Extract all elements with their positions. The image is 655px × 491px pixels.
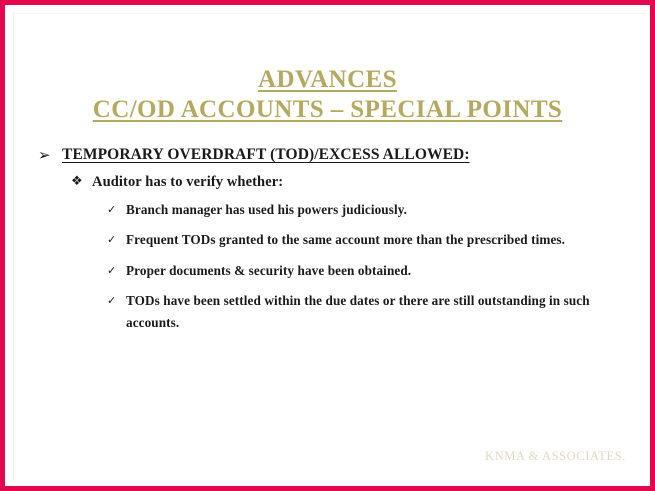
title-line-1: ADVANCES [5, 65, 650, 95]
list-item: ✓ Frequent TODs granted to the same acco… [5, 229, 650, 250]
list-item-label: Proper documents & security have been ob… [126, 260, 411, 281]
slide-footer: KNMA & ASSOCIATES. [485, 449, 626, 464]
title-line-2-text: CC/OD ACCOUNTS – SPECIAL POINTS [93, 96, 562, 123]
check-bullet-icon: ✓ [107, 229, 126, 250]
list-item-label: TODs have been settled within the due da… [126, 290, 605, 333]
check-bullet-icon: ✓ [107, 199, 126, 220]
presentation-slide: ADVANCES CC/OD ACCOUNTS – SPECIAL POINTS… [0, 0, 655, 491]
bullet-level2-label: Auditor has to verify whether: [92, 171, 283, 193]
diamond-bullet-icon: ❖ [71, 171, 92, 193]
bullet-level1-label: TEMPORARY OVERDRAFT (TOD)/EXCESS ALLOWED… [62, 144, 470, 166]
bullet-level1: ➢ TEMPORARY OVERDRAFT (TOD)/EXCESS ALLOW… [5, 144, 650, 166]
slide-title: ADVANCES CC/OD ACCOUNTS – SPECIAL POINTS [5, 65, 650, 124]
list-item: ✓ TODs have been settled within the due … [5, 290, 650, 333]
title-line-1-text: ADVANCES [258, 66, 397, 93]
list-item: ✓ Proper documents & security have been … [5, 260, 650, 281]
list-item: ✓ Branch manager has used his powers jud… [5, 199, 650, 220]
arrow-bullet-icon: ➢ [38, 144, 62, 166]
bullet-level2: ❖ Auditor has to verify whether: [5, 171, 650, 193]
check-bullet-icon: ✓ [107, 260, 126, 281]
slide-body: ➢ TEMPORARY OVERDRAFT (TOD)/EXCESS ALLOW… [5, 144, 650, 342]
title-line-2: CC/OD ACCOUNTS – SPECIAL POINTS [5, 95, 650, 125]
list-item-label: Branch manager has used his powers judic… [126, 199, 407, 220]
check-bullet-icon: ✓ [107, 290, 126, 311]
list-item-label: Frequent TODs granted to the same accoun… [126, 229, 565, 250]
